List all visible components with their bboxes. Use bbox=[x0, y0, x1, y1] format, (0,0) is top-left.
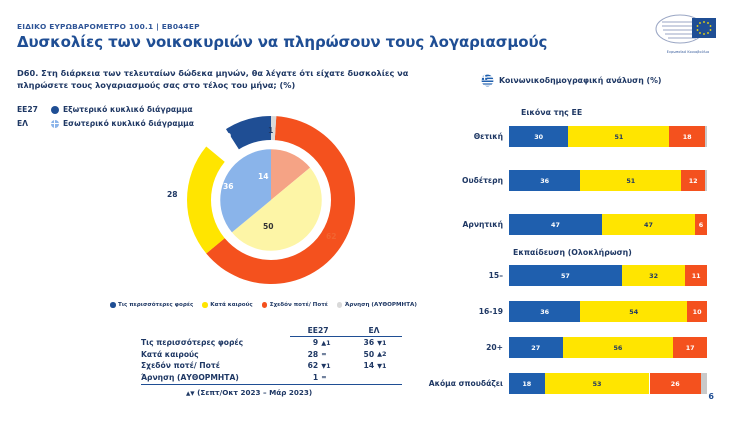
greek-flag-globe-icon bbox=[481, 74, 494, 87]
ring-key-tag-el: ΕΛ bbox=[17, 119, 47, 128]
legend-item-3: Άρνηση (ΑΥΘΟΡΜΗΤΑ) bbox=[337, 302, 417, 308]
trend-arrows-icon: ▲▼ bbox=[186, 391, 195, 397]
ring-key: ΕΕ27 Εξωτερικό κυκλικό διάγραμμα ΕΛ Εσωτ… bbox=[17, 105, 194, 133]
bar-segment-orange: 6 bbox=[695, 214, 707, 235]
donut-chart-svg bbox=[171, 112, 371, 288]
table-header-ee27: ΕΕ27 bbox=[290, 325, 346, 337]
bar-segment-yellow: 47 bbox=[602, 214, 695, 235]
bar-category-label: 15– bbox=[489, 265, 503, 286]
legend-swatch-2 bbox=[262, 302, 268, 308]
globe-circle-icon bbox=[47, 119, 63, 130]
legend-label-0: Τις περισσότερες φορές bbox=[118, 302, 193, 308]
table-cell-el bbox=[346, 371, 377, 384]
table-row: Σχεδόν ποτέ/ Ποτέ 62 ▼1 14 ▼1 bbox=[141, 360, 402, 371]
table-header-blank bbox=[141, 325, 290, 337]
bar-segment-grey bbox=[705, 126, 707, 147]
table-header-el: ΕΛ bbox=[346, 325, 402, 337]
table-cell-el-trend: ▼1 bbox=[377, 337, 402, 349]
bar-row-oudeteri: Ουδέτερη 36 51 12 bbox=[509, 170, 707, 191]
bar-category-label: Ουδέτερη bbox=[462, 170, 503, 191]
bar-segment-blue: 18 bbox=[509, 373, 545, 394]
section-title-education: Εκπαίδευση (Ολοκλήρωση) bbox=[513, 248, 632, 257]
table-cell-name: Σχεδόν ποτέ/ Ποτέ bbox=[141, 360, 290, 371]
bar-segment-orange: 17 bbox=[673, 337, 707, 358]
bar-segment-yellow: 56 bbox=[563, 337, 674, 358]
table-cell-ee27: 1 bbox=[290, 371, 321, 384]
donut-legend: Τις περισσότερες φορές Κατά καιρούς Σχεδ… bbox=[110, 302, 440, 308]
bar-segment-blue: 36 bbox=[509, 301, 580, 322]
bar-segment-yellow: 54 bbox=[580, 301, 687, 322]
bar-segment-orange: 18 bbox=[669, 126, 705, 147]
sociodemographic-header: Κοινωνικοδημογραφική ανάλυση (%) bbox=[481, 74, 661, 87]
bar-row-thetiki: Θετική 30 51 18 bbox=[509, 126, 707, 147]
ring-key-item-outer: ΕΕ27 Εξωτερικό κυκλικό διάγραμμα bbox=[17, 105, 194, 116]
table-row: Άρνηση (ΑΥΘΟΡΜΗΤΑ) 1 = bbox=[141, 371, 402, 384]
table-cell-name: Άρνηση (ΑΥΘΟΡΜΗΤΑ) bbox=[141, 371, 290, 384]
table-cell-ee27-trend: = bbox=[321, 371, 346, 384]
table-cell-ee27: 9 bbox=[290, 337, 321, 349]
bar-segment-orange: 12 bbox=[681, 170, 705, 191]
legend-label-2: Σχεδόν ποτέ/ Ποτέ bbox=[270, 302, 328, 308]
results-table: ΕΕ27 ΕΛ Τις περισσότερες φορές 9 ▲1 36 ▼… bbox=[141, 325, 402, 385]
bar-segment-blue: 36 bbox=[509, 170, 580, 191]
table-cell-el: 36 bbox=[346, 337, 377, 349]
european-parliament-logo: Ευρωπαϊκό Κοινοβούλιο bbox=[654, 12, 722, 54]
table-cell-el-trend: ▼1 bbox=[377, 360, 402, 371]
question-text: D60. Στη διάρκεια των τελευταίων δώδεκα … bbox=[17, 68, 449, 92]
legend-label-3: Άρνηση (ΑΥΘΟΡΜΗΤΑ) bbox=[345, 302, 417, 308]
bar-segment-yellow: 51 bbox=[568, 126, 669, 147]
page-number: 6 bbox=[708, 392, 714, 401]
bar-category-label: Θετική bbox=[474, 126, 503, 147]
bar-row-arnitiki: Αρνητική 47 47 6 bbox=[509, 214, 707, 235]
legend-label-1: Κατά καιρούς bbox=[210, 302, 252, 308]
legend-item-2: Σχεδόν ποτέ/ Ποτέ bbox=[262, 302, 328, 308]
table-cell-el: 50 bbox=[346, 349, 377, 360]
bar-segment-orange: 11 bbox=[685, 265, 707, 286]
legend-swatch-3 bbox=[337, 302, 343, 308]
bar-segment-yellow: 53 bbox=[545, 373, 650, 394]
table-header-row: ΕΕ27 ΕΛ bbox=[141, 325, 402, 337]
bar-segment-yellow: 32 bbox=[622, 265, 685, 286]
bar-segment-blue: 30 bbox=[509, 126, 568, 147]
bar-segment-grey bbox=[705, 170, 707, 191]
bar-segment-blue: 57 bbox=[509, 265, 622, 286]
page-title: Δυσκολίες των νοικοκυριών να πληρώσουν τ… bbox=[17, 33, 547, 51]
survey-kicker: ΕΙΔΙΚΟ ΕΥΡΩΒΑΡΟΜΕΤΡΟ 100.1 | EB044EP bbox=[17, 22, 200, 31]
bar-category-label: 20+ bbox=[486, 337, 503, 358]
ring-key-item-inner: ΕΛ Εσωτερικό κυκλικό διάγραμμα bbox=[17, 119, 194, 130]
bar-segment-blue: 47 bbox=[509, 214, 602, 235]
legend-swatch-1 bbox=[202, 302, 208, 308]
sociodemographic-title: Κοινωνικοδημογραφική ανάλυση (%) bbox=[499, 76, 661, 85]
bar-row-edu-15: 15– 57 32 11 bbox=[509, 265, 707, 286]
table-footnote: ▲▼ (Σεπτ/Οκτ 2023 – Μάρ 2023) bbox=[186, 388, 312, 397]
bar-segment-orange: 26 bbox=[650, 373, 702, 394]
table-row: Τις περισσότερες φορές 9 ▲1 36 ▼1 bbox=[141, 337, 402, 349]
bar-row-edu-still-studying: Ακόμα σπουδάζει 18 53 26 bbox=[509, 373, 707, 394]
bar-segment-blue: 27 bbox=[509, 337, 563, 358]
section-title-image-of-eu: Εικόνα της ΕΕ bbox=[521, 108, 582, 117]
table-cell-ee27-trend: = bbox=[321, 349, 346, 360]
table-cell-ee27-trend: ▲1 bbox=[321, 337, 346, 349]
table-cell-ee27: 62 bbox=[290, 360, 321, 371]
ring-key-tag-ee27: ΕΕ27 bbox=[17, 105, 47, 114]
table-footnote-text: (Σεπτ/Οκτ 2023 – Μάρ 2023) bbox=[197, 388, 312, 397]
legend-item-0: Τις περισσότερες φορές bbox=[110, 302, 193, 308]
table-cell-el-trend: ▲2 bbox=[377, 349, 402, 360]
donut-chart: 9 28 62 1 36 50 14 bbox=[171, 112, 371, 288]
table-row: Κατά καιρούς 28 = 50 ▲2 bbox=[141, 349, 402, 360]
bar-segment-yellow: 51 bbox=[580, 170, 681, 191]
bar-row-edu-16-19: 16-19 36 54 10 bbox=[509, 301, 707, 322]
logo-caption: Ευρωπαϊκό Κοινοβούλιο bbox=[654, 50, 722, 54]
table-cell-name: Τις περισσότερες φορές bbox=[141, 337, 290, 349]
bar-segment-grey bbox=[701, 373, 707, 394]
table-cell-el: 14 bbox=[346, 360, 377, 371]
ep-logo-mark bbox=[654, 12, 722, 46]
table-cell-el-trend bbox=[377, 371, 402, 384]
filled-circle-icon bbox=[47, 105, 63, 116]
bar-category-label: Ακόμα σπουδάζει bbox=[429, 373, 503, 394]
bar-segment-orange: 10 bbox=[687, 301, 707, 322]
table-cell-ee27: 28 bbox=[290, 349, 321, 360]
bar-category-label: Αρνητική bbox=[463, 214, 504, 235]
bar-row-edu-20plus: 20+ 27 56 17 bbox=[509, 337, 707, 358]
table-cell-name: Κατά καιρούς bbox=[141, 349, 290, 360]
legend-swatch-0 bbox=[110, 302, 116, 308]
table-cell-ee27-trend: ▼1 bbox=[321, 360, 346, 371]
slide-page: ΕΙΔΙΚΟ ΕΥΡΩΒΑΡΟΜΕΤΡΟ 100.1 | EB044EP Δυσ… bbox=[0, 0, 734, 424]
bar-category-label: 16-19 bbox=[479, 301, 503, 322]
legend-item-1: Κατά καιρούς bbox=[202, 302, 252, 308]
